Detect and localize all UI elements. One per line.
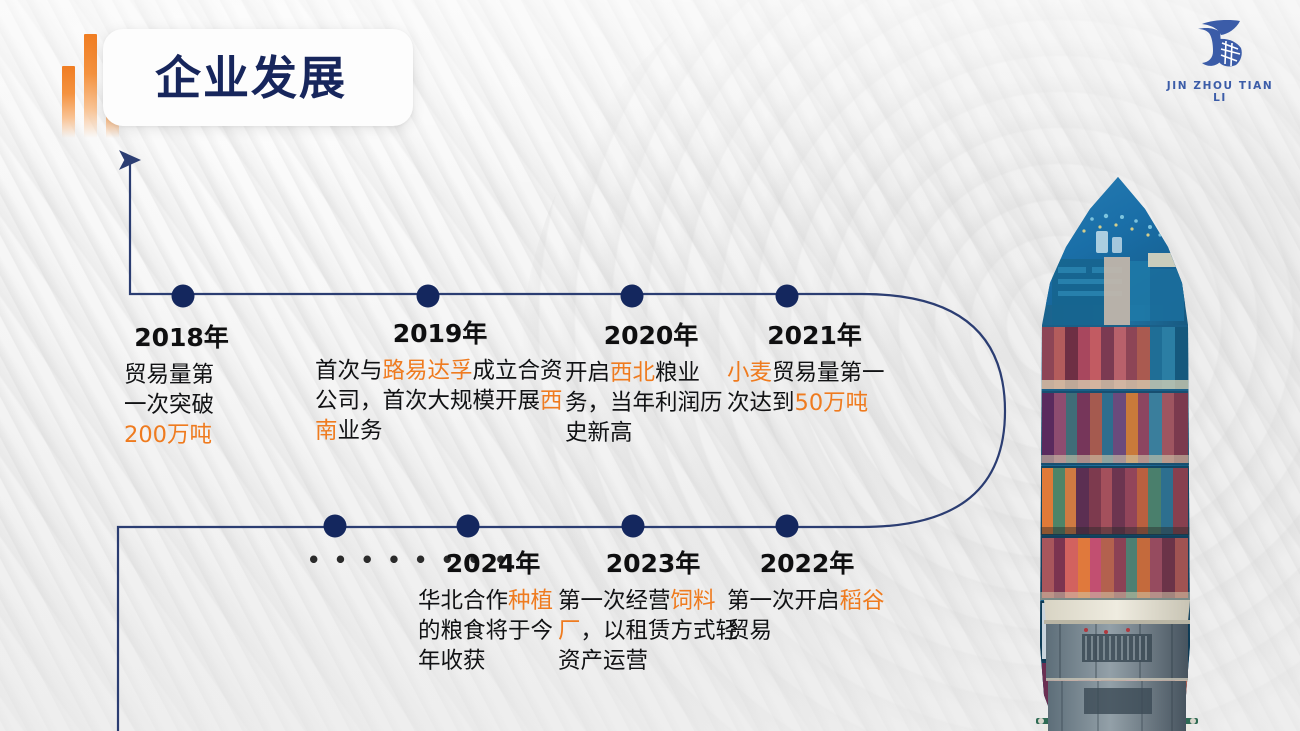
text-segment: 贸易 [727, 618, 772, 644]
text-segment-highlight: 200万吨 [124, 422, 212, 448]
timeline-year-2022: 2022年 [727, 544, 887, 580]
timeline-entry-2022: 2022年 第一次开启稻谷贸易 [727, 544, 887, 646]
timeline-body-2022: 第一次开启稻谷贸易 [727, 586, 887, 646]
timeline-entry-2023: 2023年 第一次经营饲料厂，以租赁方式轻资产运营 [558, 544, 748, 676]
timeline-body-2024: 华北合作种植的粮食将于今年收获 [418, 586, 568, 676]
timeline-body-2020: 开启西北粮业务，当年利润历史新高 [565, 358, 737, 448]
timeline-dot-2022 [776, 515, 799, 538]
container-ship-lower-hull [1000, 600, 1235, 731]
timeline-dot-ellipsis [324, 515, 347, 538]
text-segment-highlight: 种植 [508, 588, 553, 614]
timeline-dot-2020 [621, 285, 644, 308]
text-segment: 首次与 [315, 358, 383, 384]
text-segment: 第一次开启 [727, 588, 840, 614]
timeline-entry-2020: 2020年 开启西北粮业务，当年利润历史新高 [565, 316, 737, 448]
text-segment-highlight: 稻谷 [840, 588, 885, 614]
text-segment: 的粮食将于今年收获 [418, 618, 553, 674]
timeline-dot-2019 [417, 285, 440, 308]
timeline-body-2023: 第一次经营饲料厂，以租赁方式轻资产运营 [558, 586, 748, 676]
timeline-body-2021: 小麦贸易量第一次达到50万吨 [727, 358, 902, 418]
text-segment: ，以租赁方式轻资产运营 [558, 618, 738, 674]
text-segment: 贸易量第 [124, 362, 214, 388]
text-segment-highlight: 小麦 [727, 360, 772, 386]
timeline-year-2023: 2023年 [558, 544, 748, 580]
timeline-dot-2023 [622, 515, 645, 538]
text-segment: 开启 [565, 360, 610, 386]
slide-canvas: 企业发展 JIN ZHOU TIAN LI [0, 0, 1300, 731]
timeline-entry-2019: 2019年 首次与路易达孚成立合资公司，首次大规模开展西南业务 [315, 314, 565, 446]
text-segment: 华北合作 [418, 588, 508, 614]
text-segment-highlight: 路易达孚 [383, 358, 473, 384]
text-segment: 第一次经营 [558, 588, 671, 614]
timeline-dot-2024 [457, 515, 480, 538]
text-segment-highlight: 50万吨 [795, 390, 869, 416]
timeline-year-2019: 2019年 [315, 314, 565, 350]
timeline-body-2018: 贸易量第 一次突破 200万吨 [124, 360, 294, 450]
timeline-year-2018: 2018年 [124, 318, 239, 354]
timeline-year-2021: 2021年 [727, 316, 902, 352]
timeline-dot-2018 [172, 285, 195, 308]
text-segment: 业务 [338, 418, 383, 444]
text-segment: 一次突破 [124, 392, 214, 418]
timeline-entry-2024: 2024年 华北合作种植的粮食将于今年收获 [418, 544, 568, 676]
timeline-entry-2018: 2018年 贸易量第 一次突破 200万吨 [124, 318, 294, 450]
timeline-body-2019: 首次与路易达孚成立合资公司，首次大规模开展西南业务 [315, 356, 565, 446]
timeline-dot-2021 [776, 285, 799, 308]
text-segment-highlight: 西北 [610, 360, 655, 386]
timeline-year-2024: 2024年 [418, 544, 568, 580]
timeline-year-2020: 2020年 [565, 316, 737, 352]
timeline-entry-2021: 2021年 小麦贸易量第一次达到50万吨 [727, 316, 902, 418]
